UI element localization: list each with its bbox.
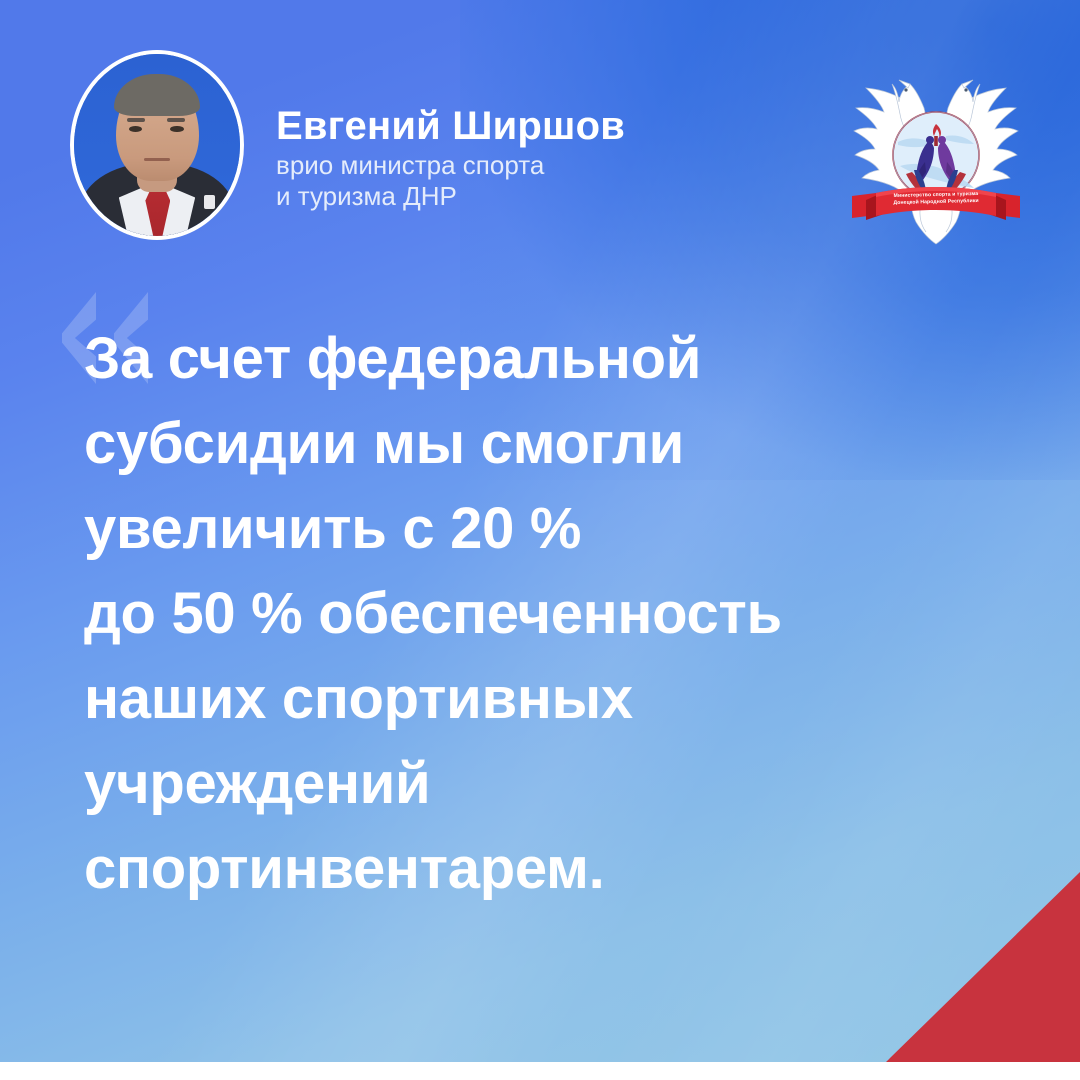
ministry-emblem-icon: Министерство спорта и туризма Донецкой Н… [836,50,1036,250]
photo-eye-left [129,126,142,132]
quote-text: За счет федеральной субсидии мы смогли у… [84,316,964,911]
avatar-photo [74,54,240,236]
photo-eye-right [170,126,183,132]
photo-eyebrow-right [167,118,185,123]
photo-mouth [144,158,171,161]
speaker-role: врио министра спорта и туризма ДНР [276,150,544,212]
avatar [70,50,244,240]
bottom-white-strip [0,1062,1080,1080]
photo-eyebrow-left [127,118,145,123]
quote-card: Евгений Ширшов врио министра спорта и ту… [0,0,1080,1080]
photo-lapel-pin [204,195,215,209]
speaker-name: Евгений Ширшов [276,104,625,149]
